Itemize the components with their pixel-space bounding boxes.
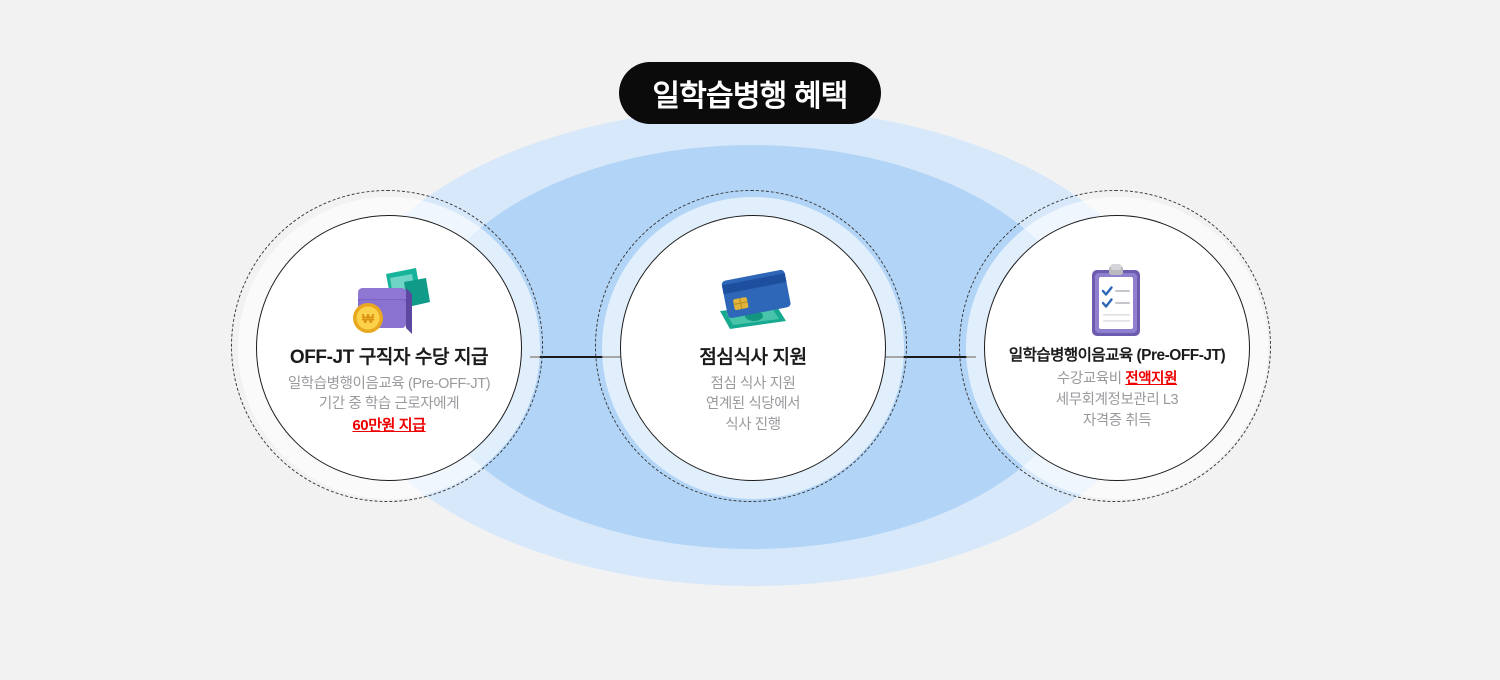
svg-text:₩: ₩	[362, 311, 375, 326]
card-body: 수강교육비 전액지원 세무회계정보관리 L3 자격증 취득	[1056, 369, 1178, 431]
card-circle: 일학습병행이음교육 (Pre-OFF-JT) 수강교육비 전액지원 세무회계정보…	[984, 215, 1250, 481]
card-body: 일학습병행이음교육 (Pre-OFF-JT) 기간 중 학습 근로자에게 60만…	[288, 374, 490, 436]
card-circle: 점심식사 지원 점심 식사 지원 연계된 식당에서 식사 진행	[620, 215, 886, 481]
card-body-line: 점심 식사 지원	[706, 374, 800, 395]
card-body-line: 세무회계정보관리 L3	[1056, 390, 1178, 411]
benefit-card-3[interactable]: 일학습병행이음교육 (Pre-OFF-JT) 수강교육비 전액지원 세무회계정보…	[957, 188, 1277, 508]
card-body-line: 식사 진행	[706, 415, 800, 436]
page-title: 일학습병행 혜택	[652, 71, 847, 115]
benefit-card-1[interactable]: ₩ OFF-JT 구직자 수당 지급 일학습병행이음교육 (Pre-OFF-JT…	[229, 188, 549, 508]
card-title: OFF-JT 구직자 수당 지급	[290, 346, 488, 370]
card-title: 점심식사 지원	[699, 346, 806, 370]
card-body-line: 기간 중 학습 근로자에게	[288, 394, 490, 415]
clipboard-checklist-icon	[1069, 262, 1165, 342]
page-title-badge: 일학습병행 혜택	[619, 62, 881, 124]
card-highlight: 60만원 지급	[288, 415, 490, 436]
card-body-line: 자격증 취득	[1056, 411, 1178, 432]
card-body-line: 연계된 식당에서	[706, 394, 800, 415]
card-title: 일학습병행이음교육 (Pre-OFF-JT)	[1009, 346, 1225, 365]
card-body: 점심 식사 지원 연계된 식당에서 식사 진행	[706, 374, 800, 436]
infographic-stage: ₩ OFF-JT 구직자 수당 지급 일학습병행이음교육 (Pre-OFF-JT…	[0, 0, 1500, 680]
card-circle: ₩ OFF-JT 구직자 수당 지급 일학습병행이음교육 (Pre-OFF-JT…	[256, 215, 522, 481]
card-body-prefix: 수강교육비	[1057, 371, 1125, 387]
benefit-card-2[interactable]: 점심식사 지원 점심 식사 지원 연계된 식당에서 식사 진행	[593, 188, 913, 508]
wallet-money-icon: ₩	[341, 262, 437, 342]
card-inline-highlight: 전액지원	[1125, 371, 1177, 387]
card-body-line: 일학습병행이음교육 (Pre-OFF-JT)	[288, 374, 490, 395]
credit-card-cash-icon	[705, 262, 801, 342]
card-body-line-highlight: 수강교육비 전액지원	[1056, 369, 1178, 390]
